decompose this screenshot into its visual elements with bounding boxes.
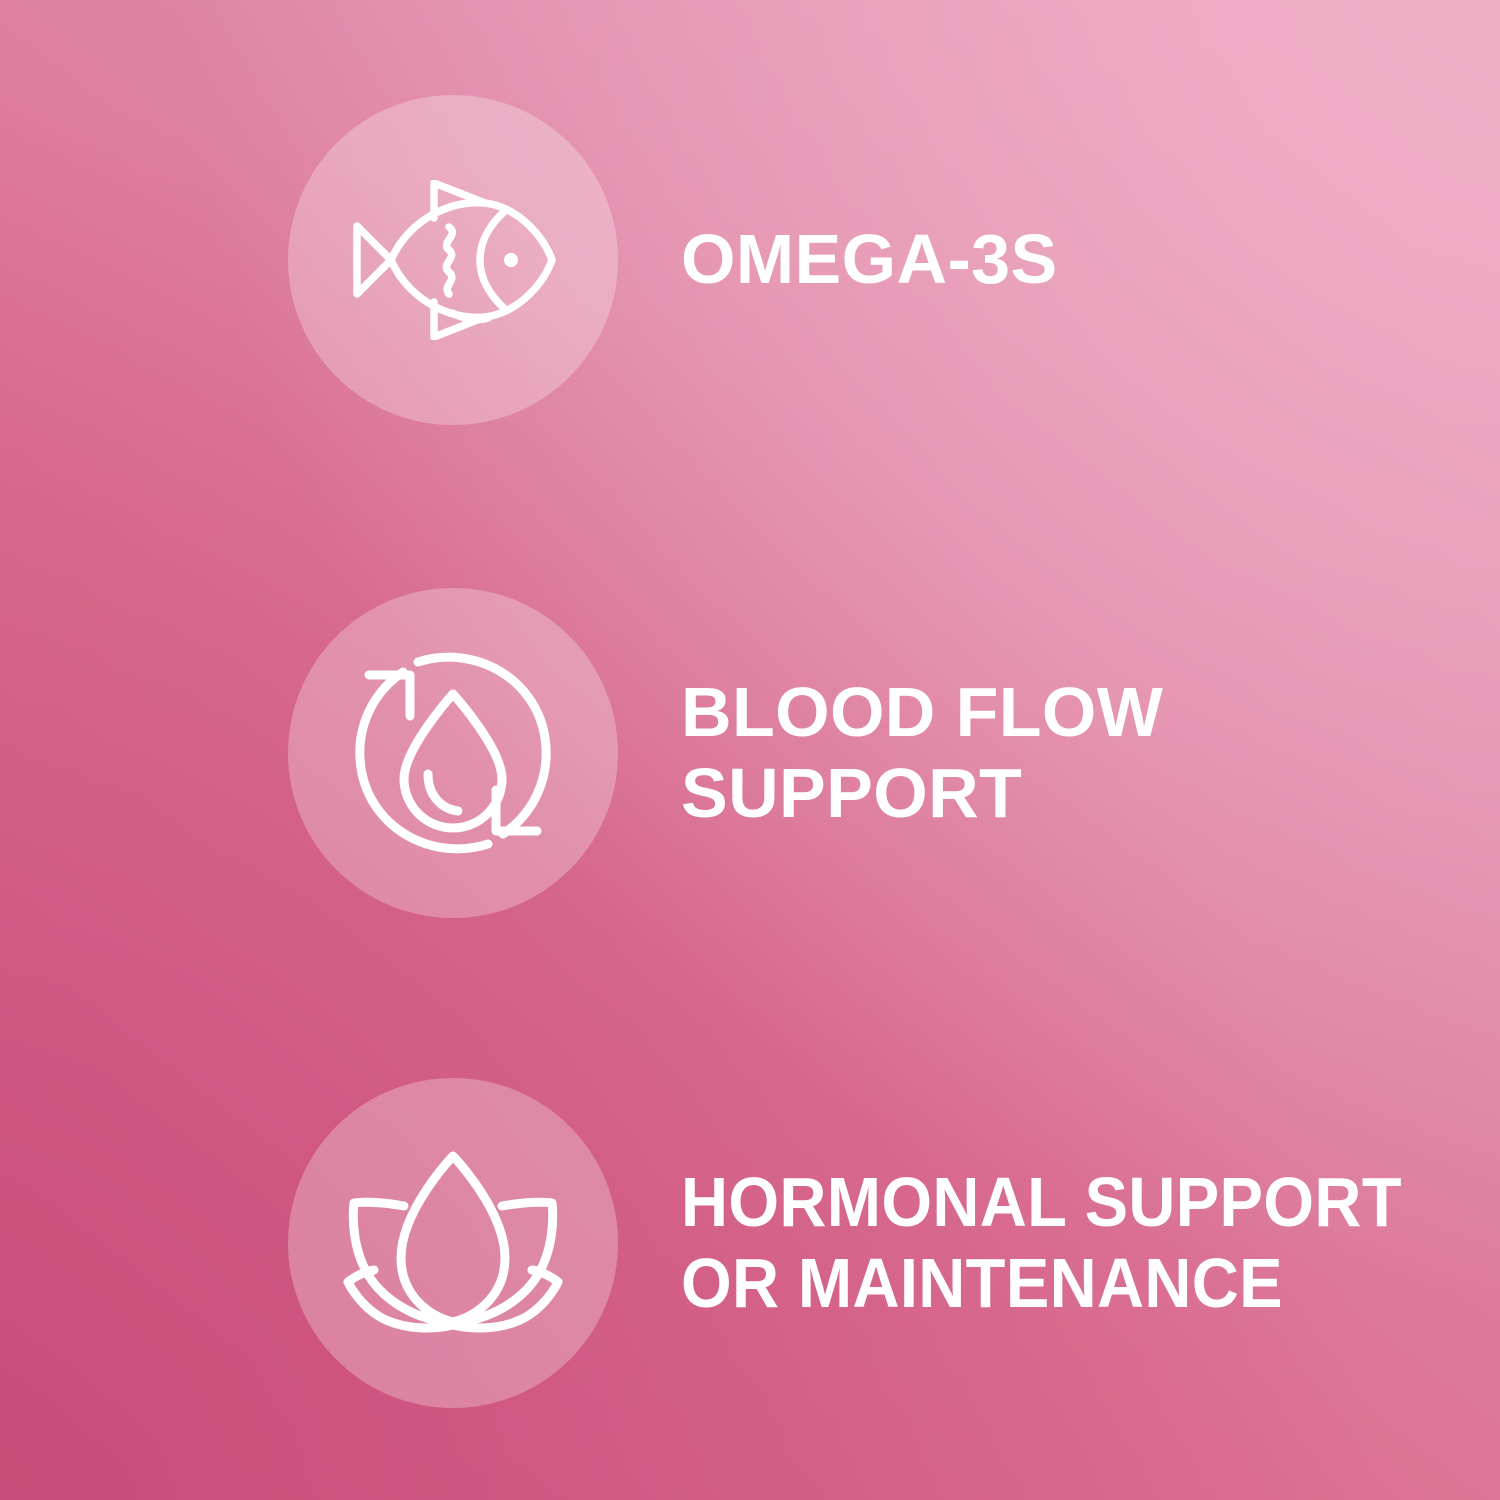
blood-flow-icon [346, 646, 560, 860]
fish-icon [348, 180, 558, 340]
benefits-graphic: OMEGA-3S [0, 0, 1500, 1500]
benefit-list: OMEGA-3S [0, 0, 1500, 1500]
benefit-row-blood-flow-support: BLOOD FLOW SUPPORT [0, 588, 1500, 918]
badge-circle-blood-flow [288, 588, 618, 918]
benefit-row-hormonal-support: HORMONAL SUPPORT OR MAINTENANCE [0, 1078, 1500, 1408]
badge-circle-omega-3s [288, 95, 618, 425]
badge-circle-hormonal [288, 1078, 618, 1408]
benefit-label-hormonal-support: HORMONAL SUPPORT OR MAINTENANCE [681, 1162, 1443, 1324]
benefit-label-blood-flow-support: BLOOD FLOW SUPPORT [681, 672, 1500, 834]
benefit-label-omega-3s: OMEGA-3S [681, 219, 1500, 300]
benefit-row-omega-3s: OMEGA-3S [0, 95, 1500, 425]
lotus-icon [340, 1148, 566, 1338]
